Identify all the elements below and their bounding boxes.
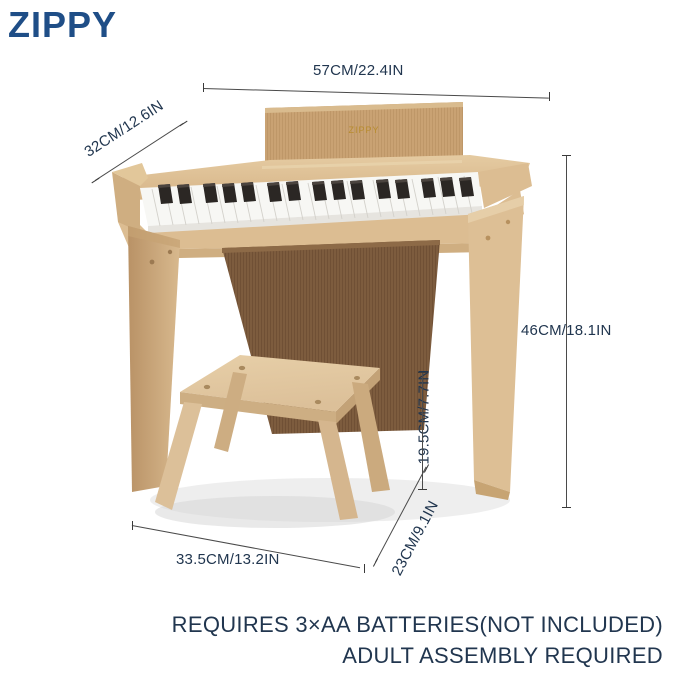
dim-cap-bench-width-left [132, 521, 133, 530]
dim-line-bench-height [422, 372, 423, 489]
dim-label-bench-height: 19.5CM/7.7IN [416, 370, 433, 465]
bench-screw-hole-3 [315, 400, 321, 404]
dim-cap-bench-height-top [418, 372, 427, 373]
bench-floor-shadow [155, 496, 395, 528]
bench-screw-hole-2 [239, 366, 245, 370]
piano-back-panel: ZIPPY [265, 102, 463, 163]
bench-screw-hole-4 [354, 376, 360, 380]
product-info-graphic: ZIPPY [0, 0, 679, 673]
piano-right-leg [468, 196, 524, 500]
dim-cap-piano-height-top [562, 155, 571, 156]
bench-screw-hole-1 [204, 385, 210, 389]
dim-cap-bench-width-right [364, 564, 365, 573]
dim-label-piano-width: 57CM/22.4IN [313, 62, 404, 79]
dim-cap-piano-width-left [203, 83, 204, 92]
dim-label-bench-width: 33.5CM/13.2IN [176, 551, 279, 568]
dim-cap-bench-height-bottom [418, 489, 427, 490]
notice-line-batteries: REQUIRES 3×AA BATTERIES(NOT INCLUDED) [172, 612, 663, 638]
dim-cap-piano-height-bottom [562, 507, 571, 508]
dim-cap-piano-width-right [549, 92, 550, 101]
notice-line-assembly: ADULT ASSEMBLY REQUIRED [342, 643, 663, 669]
panel-brand-logo: ZIPPY [348, 125, 379, 135]
dim-line-piano-height [566, 155, 567, 507]
